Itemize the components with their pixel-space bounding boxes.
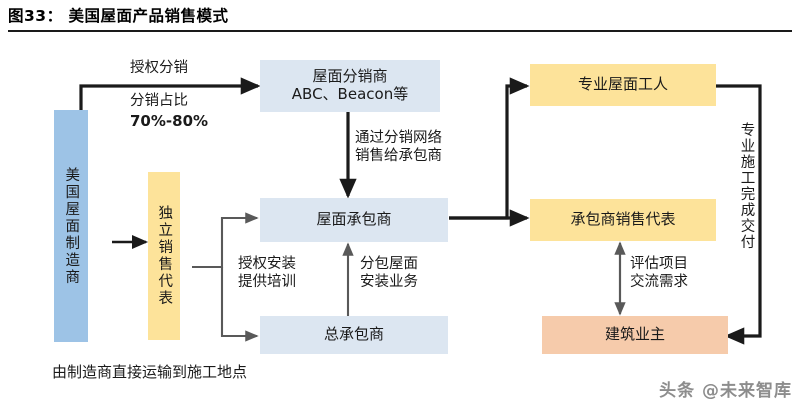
edge-label-sell-via-network: 通过分销网络 销售给承包商 — [355, 130, 442, 165]
node-roofing-contractor-label: 屋面承包商 — [316, 211, 391, 229]
node-building-owner[interactable]: 建筑业主 — [542, 316, 728, 354]
edge-label-authorized-distribution: 授权分销 — [130, 60, 188, 78]
node-independent-sales-rep-label: 独立销售代表 — [157, 205, 172, 307]
edge-label-distribution-share-value: 70%-80% — [130, 112, 208, 130]
node-building-owner-label: 建筑业主 — [605, 326, 665, 344]
edge-label-authorized-install: 授权安装 提供培训 — [238, 256, 296, 291]
edge-label-distribution-share: 分销占比 — [130, 93, 188, 111]
node-general-contractor-label: 总承包商 — [324, 326, 384, 344]
node-us-roofing-manufacturer[interactable]: 美国屋面制造商 — [54, 110, 88, 342]
edge-roofing-contractor-to-pro-roofers — [449, 86, 527, 218]
node-contractor-sales-rep[interactable]: 承包商销售代表 — [530, 199, 716, 241]
node-professional-roofers-label: 专业屋面工人 — [578, 76, 668, 94]
node-roofing-distributor-line2: ABC、Beacon等 — [292, 86, 408, 104]
node-independent-sales-rep[interactable]: 独立销售代表 — [148, 172, 180, 340]
node-professional-roofers[interactable]: 专业屋面工人 — [530, 64, 716, 106]
node-roofing-contractor[interactable]: 屋面承包商 — [260, 198, 448, 242]
watermark: 头条 @未来智库 — [659, 376, 792, 401]
node-roofing-distributor-line1: 屋面分销商 — [312, 68, 387, 86]
diagram-root: 图33： 美国屋面产品销售模式 — [0, 0, 800, 407]
node-roofing-distributor[interactable]: 屋面分销商 ABC、Beacon等 — [260, 60, 440, 112]
footer-caption: 由制造商直接运输到施工地点 — [52, 363, 247, 381]
edge-label-subcontract-install: 分包屋面 安装业务 — [360, 256, 418, 291]
edge-label-pro-construction-delivery: 专业施工完成交付 — [739, 122, 754, 250]
node-contractor-sales-rep-label: 承包商销售代表 — [570, 211, 675, 229]
edge-label-assess-and-communicate: 评估项目 交流需求 — [630, 256, 688, 291]
node-us-roofing-manufacturer-label: 美国屋面制造商 — [64, 167, 79, 286]
node-general-contractor[interactable]: 总承包商 — [260, 316, 448, 354]
